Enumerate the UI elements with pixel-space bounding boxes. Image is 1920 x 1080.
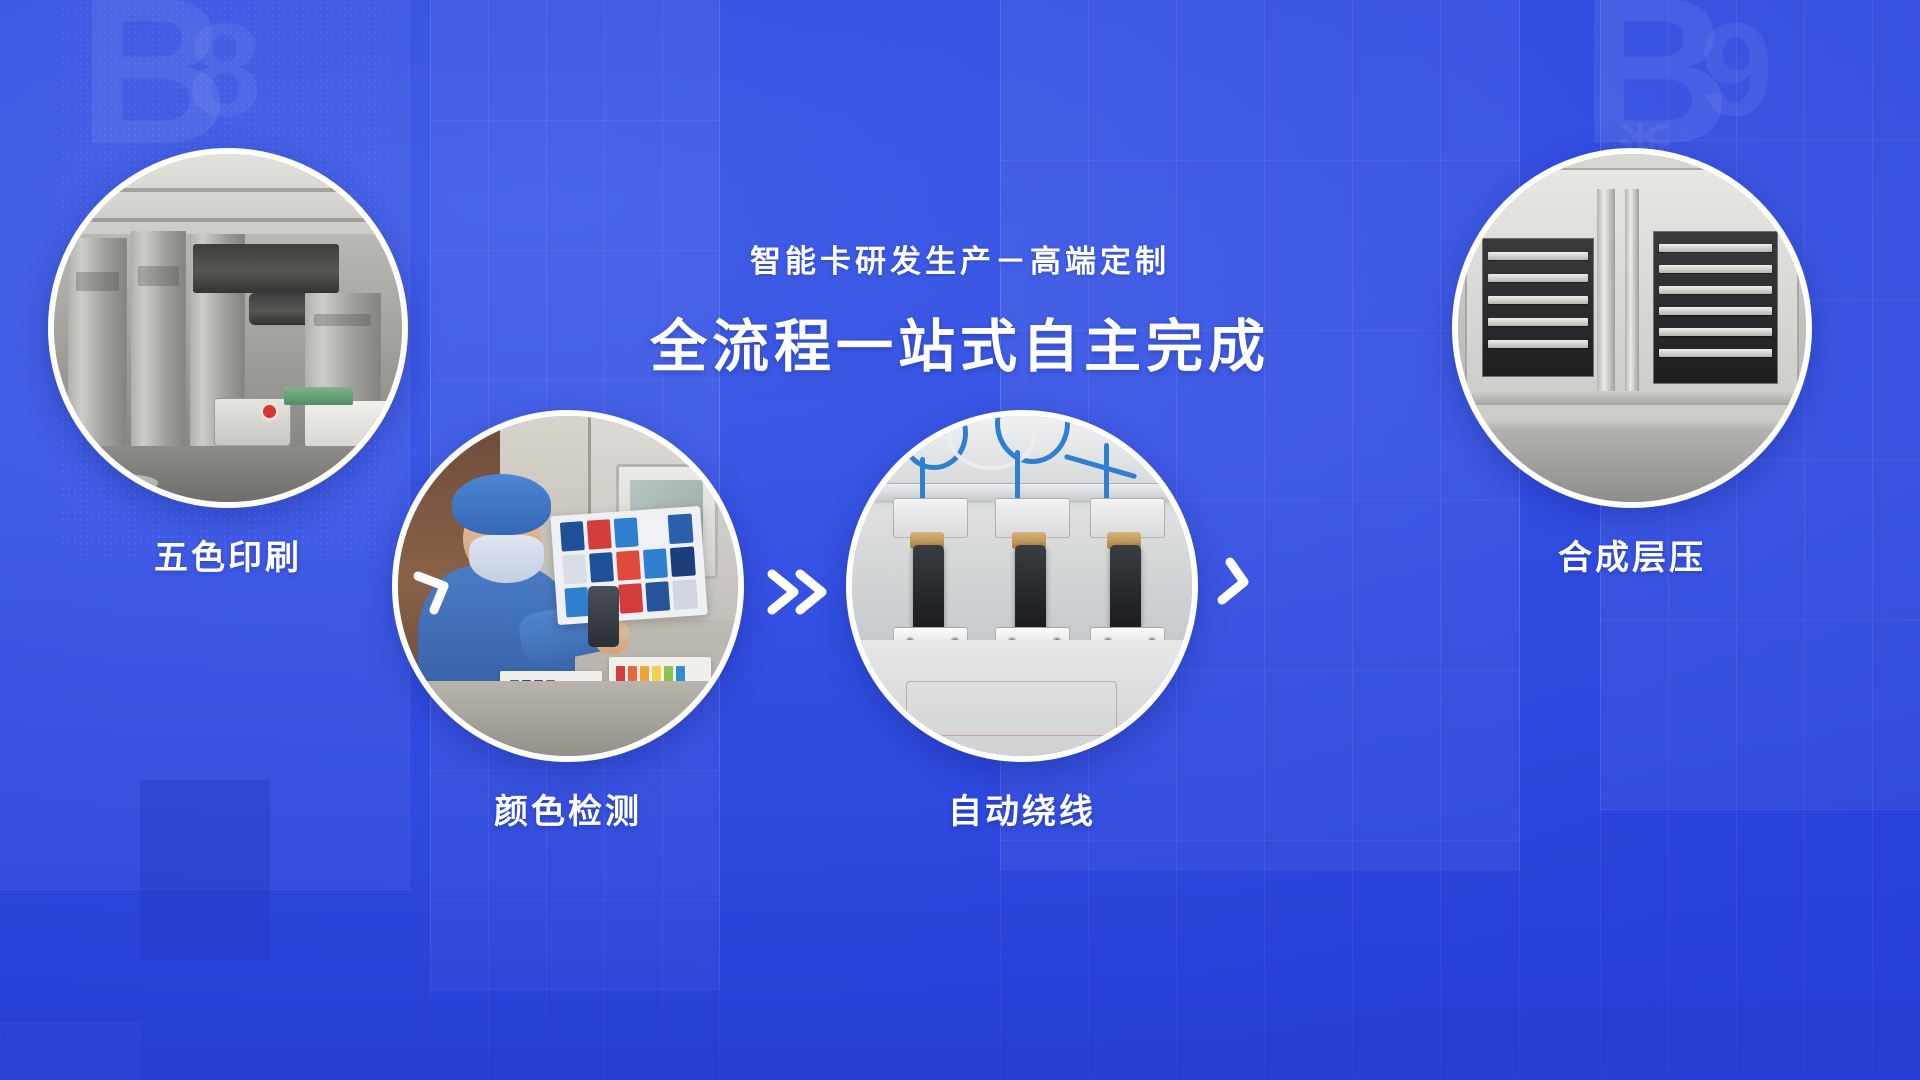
- lamination-scene: [1458, 154, 1806, 502]
- process-step-1[interactable]: 五色印刷: [48, 148, 408, 579]
- winder-scene: [852, 416, 1192, 756]
- press-deck: [193, 244, 339, 293]
- inspection-spectrophotometer: [588, 586, 619, 647]
- process-step-1-label: 五色印刷: [48, 530, 408, 579]
- press-tower-2: [131, 231, 187, 454]
- press-green-stock: [284, 387, 354, 404]
- lamination-bay-right: [1653, 231, 1778, 384]
- press-photo-canvas: [54, 154, 402, 502]
- lamination-base: [1458, 432, 1806, 502]
- connector-2-3-chevron-double-right-icon: [760, 560, 836, 624]
- process-step-4-label: 合成层压: [1452, 530, 1812, 579]
- winder-photo-canvas: [852, 416, 1192, 756]
- lamination-photo-canvas: [1458, 154, 1806, 502]
- lamination-press-photo: [1452, 148, 1812, 508]
- press-scene: [54, 154, 402, 502]
- lamination-rail-upper: [1472, 391, 1792, 405]
- connector-3-4-chevron-right-icon: [1196, 548, 1268, 620]
- process-step-3[interactable]: 自动绕线: [846, 410, 1198, 833]
- press-ceiling: [54, 154, 402, 234]
- inspection-worker-cap: [452, 474, 551, 535]
- process-step-2-label: 颜色检测: [392, 784, 744, 833]
- inspection-colour-sheet: [551, 506, 708, 625]
- inspection-sheet-grid: [560, 513, 698, 618]
- press-tower-1: [68, 238, 127, 454]
- press-ceiling-beam-2: [54, 218, 402, 222]
- press-paper-stack: [305, 401, 389, 446]
- press-ceiling-beam-1: [54, 188, 402, 192]
- banner-canvas: B 8 B 9 浙 智能卡研发生产－高端定制 全流程一站式自主完成: [0, 0, 1920, 1080]
- automatic-coil-winding-photo: [846, 410, 1198, 762]
- process-step-4[interactable]: 合成层压: [1452, 148, 1812, 579]
- connector-1-2-chevron-right-icon: [396, 552, 468, 624]
- lamination-post-center-2: [1625, 189, 1639, 405]
- winder-spindle-3: [1110, 545, 1141, 633]
- process-step-3-label: 自动绕线: [846, 784, 1198, 833]
- lamination-post-center: [1597, 189, 1614, 405]
- winder-spindle-1: [913, 545, 944, 633]
- inspection-worker-mask: [469, 535, 544, 583]
- five-colour-offset-press-photo: [48, 148, 408, 508]
- inspection-bench: [398, 681, 738, 756]
- press-floor-drain-icon: [82, 474, 159, 491]
- winder-antenna-trace: [906, 681, 1117, 735]
- winder-spindle-2: [1015, 545, 1046, 633]
- lamination-bay-left: [1482, 238, 1593, 377]
- press-control-panel: [214, 398, 291, 447]
